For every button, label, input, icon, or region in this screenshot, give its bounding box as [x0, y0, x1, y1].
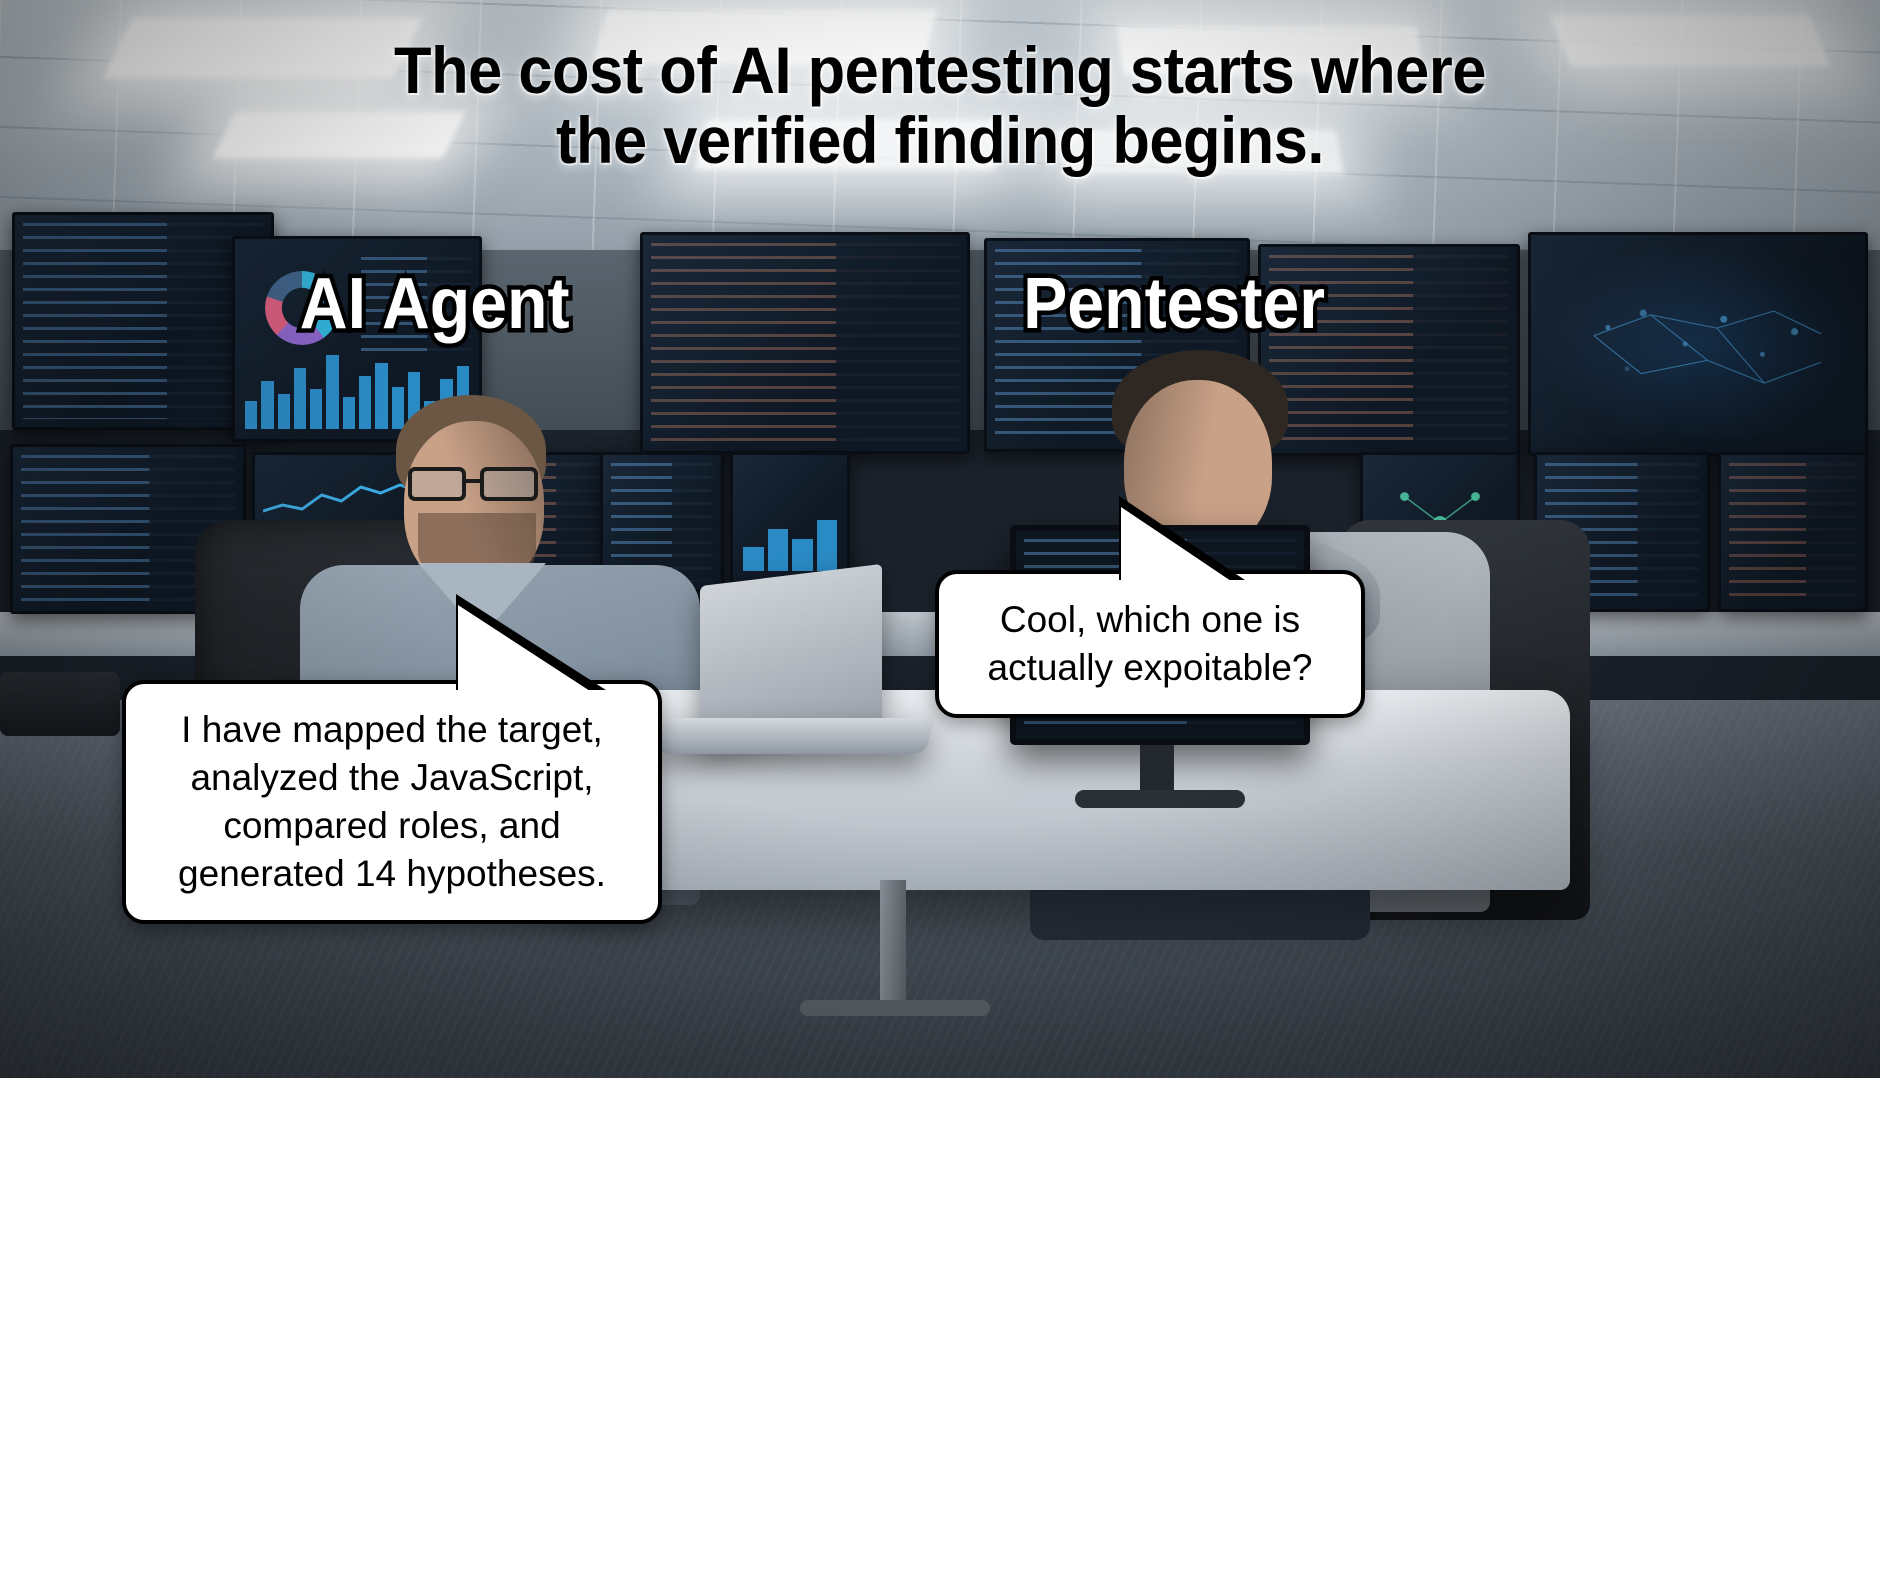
headline-line-1: The cost of AI pentesting starts where — [394, 33, 1486, 107]
code-lines — [1729, 463, 1857, 601]
bubble-tail-fill — [1121, 507, 1231, 581]
speech-bubble-ai-agent: I have mapped the target, analyzed the J… — [122, 680, 662, 924]
scene-photo: The cost of AI pentesting starts where t… — [0, 0, 1880, 1078]
speech-bubble-pentester: Cool, which one is actually expoitable? — [935, 570, 1365, 718]
table-leg — [880, 880, 906, 1010]
footer-bar: penligent AI Pentesting(Hacking) Costs — [0, 1078, 1880, 1576]
network-lines — [1537, 241, 1859, 453]
lens-left — [408, 467, 466, 501]
eyeglasses — [408, 467, 554, 501]
label-pentester: Pentester — [1023, 268, 1325, 340]
monitor-foot — [1075, 790, 1245, 808]
code-lines — [23, 223, 263, 419]
table-foot — [800, 1000, 990, 1016]
bubble-tail-fill — [458, 605, 590, 691]
wall-monitor-worldmap — [1528, 232, 1868, 456]
lens-right — [480, 467, 538, 501]
world-map-graphic — [1537, 241, 1859, 447]
speech-bubble-pentester-text: Cool, which one is actually expoitable? — [965, 596, 1335, 692]
desk-phone — [0, 672, 120, 736]
speech-bubble-ai-agent-text: I have mapped the target, analyzed the J… — [152, 706, 632, 898]
wall-monitor — [1718, 452, 1868, 612]
headline-line-2: the verified finding begins. — [66, 106, 1814, 176]
wall-monitor — [730, 452, 850, 584]
laptop-keyboard — [656, 718, 935, 754]
bar-chart — [743, 513, 837, 571]
poster-root: The cost of AI pentesting starts where t… — [0, 0, 1880, 1576]
label-ai-agent: AI Agent — [300, 268, 570, 340]
headline: The cost of AI pentesting starts where t… — [66, 36, 1814, 176]
